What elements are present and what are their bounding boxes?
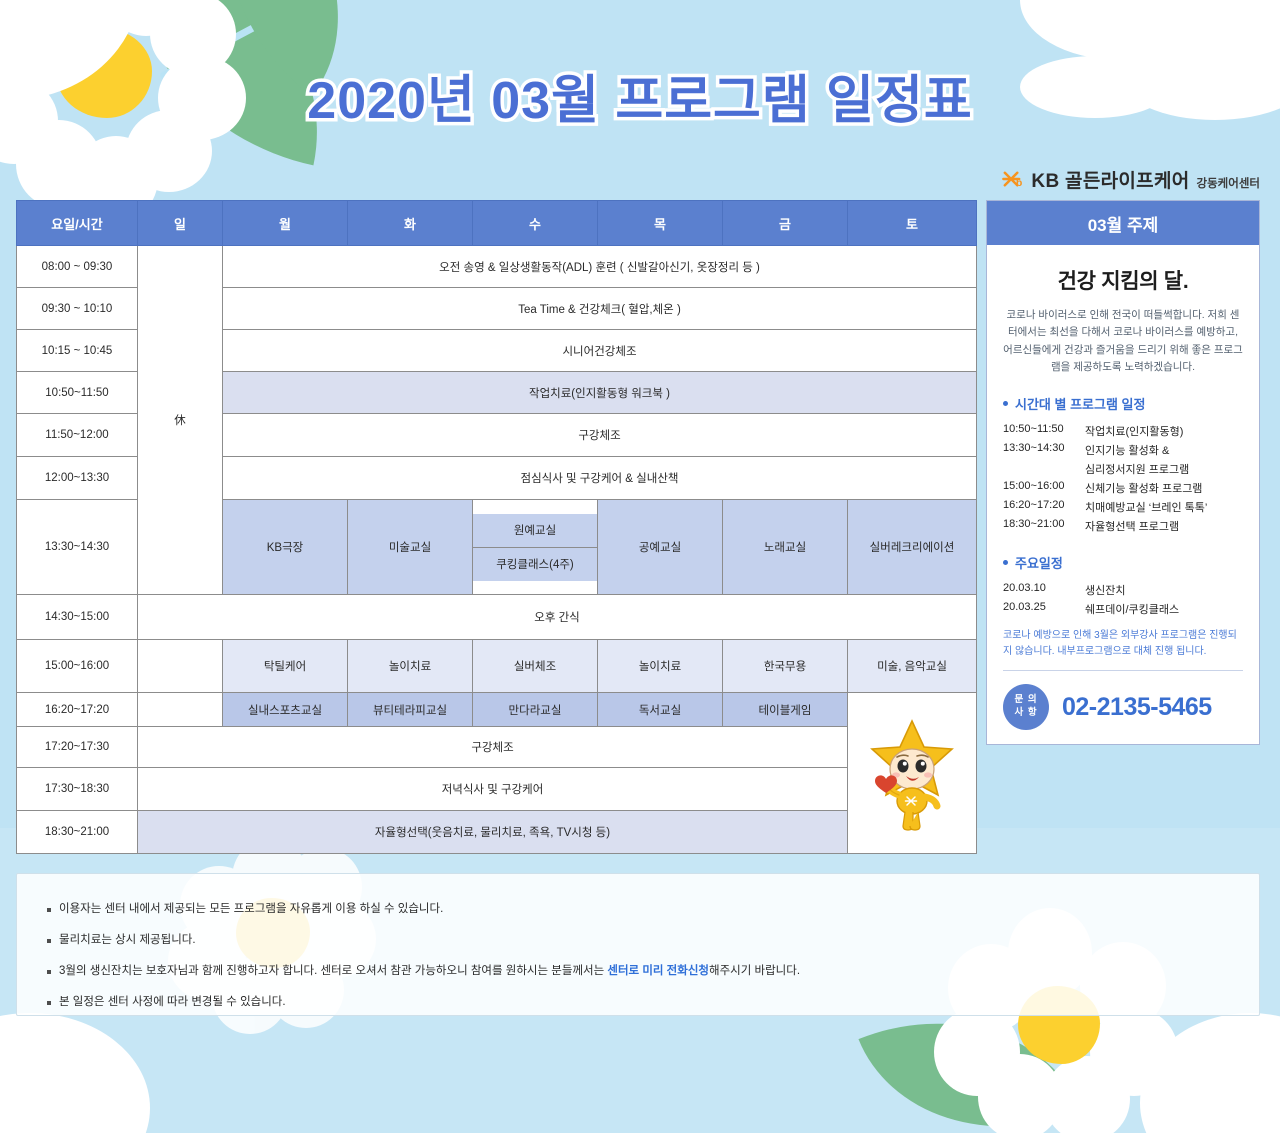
event-name: 생신잔치 (1085, 580, 1243, 599)
note-text-composite: 3월의 생신잔치는 보호자님과 함께 진행하고자 합니다. 센터로 오셔서 참관… (59, 964, 800, 979)
inquiry-label-line1: 문 의 (1014, 694, 1037, 707)
panel-header: 03월 주제 (987, 201, 1259, 245)
brand-name: KB 골든라이프케어 (1031, 166, 1189, 193)
inquiry-badge: 문 의 사 항 (1003, 684, 1049, 730)
time-label: 08:00 ~ 09:30 (17, 246, 138, 288)
table-header-row: 요일/시간 일 월 화 수 목 금 토 (17, 201, 977, 246)
note-item: 물리치료는 상시 제공됩니다. (47, 933, 1229, 948)
program-cell-wed: 실버체조 (473, 640, 598, 693)
program-cell-tue: 놀이치료 (348, 640, 473, 693)
slot-name-line2: 심리정서지원 프로그램 (1085, 459, 1243, 478)
sunday-empty-cell (138, 693, 223, 727)
note-text-post: 해주시기 바랍니다. (709, 965, 800, 977)
corona-notice: 코로나 예방으로 인해 3월은 외부강사 프로그램은 진행되지 않습니다. 내부… (1003, 628, 1243, 660)
bullet-square-icon (47, 939, 51, 943)
program-cell-mon: 탁틸케어 (223, 640, 348, 693)
note-text: 본 일정은 센터 사정에 따라 변경될 수 있습니다. (59, 995, 286, 1010)
event-name: 쉐프데이/쿠킹클래스 (1085, 599, 1243, 618)
program-cell-wed-upper: 원예교실 (473, 514, 597, 548)
monthly-theme-panel: 03월 주제 건강 지킴의 달. 코로나 바이러스로 인해 전국이 떠들썩합니다… (986, 200, 1260, 745)
program-cell-tue: 뷰티테라피교실 (348, 693, 473, 727)
slot-time: 18:30~21:00 (1003, 516, 1085, 535)
theme-title: 건강 지킴의 달. (1003, 265, 1243, 295)
table-row: 14:30~15:00 오후 간식 (17, 595, 977, 640)
slot-name: 자율형선택 프로그램 (1085, 516, 1243, 535)
program-cell-tue: 미술교실 (348, 500, 473, 595)
slot-time-empty (1003, 459, 1085, 478)
slot-name: 치매예방교실 ‘브레인 톡톡’ (1085, 497, 1243, 516)
program-cell-allday: Tea Time & 건강체크( 혈압,체온 ) (223, 288, 977, 330)
program-cell-wed-lower: 쿠킹클래스(4주) (473, 547, 597, 581)
bullet-square-icon (47, 908, 51, 912)
note-text: 이용자는 센터 내에서 제공되는 모든 프로그램을 자유롭게 이용 하실 수 있… (59, 902, 443, 917)
program-cell-thu: 공예교실 (598, 500, 723, 595)
mascot-character-cell (848, 693, 977, 854)
event-date: 20.03.25 (1003, 599, 1085, 618)
program-cell-allday: 오후 간식 (138, 595, 977, 640)
program-cell-sat: 실버레크리에이션 (848, 500, 977, 595)
time-label: 13:30~14:30 (17, 500, 138, 595)
program-cell-allday: 오전 송영 & 일상생활동작(ADL) 훈련 ( 신발갈아신기, 옷장정리 등 … (223, 246, 977, 288)
program-cell-fri: 테이블게임 (723, 693, 848, 727)
column-header-wed: 수 (473, 201, 598, 246)
bullet-icon (1003, 560, 1008, 565)
section-heading-schedule-label: 시간대 별 프로그램 일정 (1015, 394, 1145, 413)
program-cell-allday: 구강체조 (223, 414, 977, 457)
page-title: 2020년 03월 프로그램 일정표 (307, 58, 972, 133)
time-label: 17:30~18:30 (17, 768, 138, 811)
column-header-thu: 목 (598, 201, 723, 246)
list-item: 13:30~14:30 인지기능 활성화 & (1003, 440, 1243, 459)
list-item-continuation: 심리정서지원 프로그램 (1003, 459, 1243, 478)
slot-name: 신체기능 활성화 프로그램 (1085, 478, 1243, 497)
table-row: 08:00 ~ 09:30 休 오전 송영 & 일상생활동작(ADL) 훈련 (… (17, 246, 977, 288)
note-text: 물리치료는 상시 제공됩니다. (59, 933, 196, 948)
brand-logo: b KB 골든라이프케어 강동케어센터 (1001, 166, 1260, 193)
time-label: 11:50~12:00 (17, 414, 138, 457)
column-header-sat: 토 (848, 201, 977, 246)
time-label: 10:15 ~ 10:45 (17, 330, 138, 372)
timeslot-program-list: 10:50~11:50 작업치료(인지활동형) 13:30~14:30 인지기능… (1003, 421, 1243, 535)
table-row: 17:20~17:30 구강체조 (17, 727, 977, 768)
program-cell-thu: 독서교실 (598, 693, 723, 727)
column-header-mon: 월 (223, 201, 348, 246)
contact-phone-number[interactable]: 02-2135-5465 (1062, 693, 1212, 722)
sunday-empty-cell (138, 640, 223, 693)
section-heading-events-label: 주요일정 (1015, 553, 1063, 572)
table-row: 16:20~17:20 실내스포츠교실 뷰티테라피교실 만다라교실 독서교실 테… (17, 693, 977, 727)
program-cell-fri: 한국무용 (723, 640, 848, 693)
program-cell-allday: 구강체조 (138, 727, 848, 768)
time-label: 18:30~21:00 (17, 811, 138, 854)
time-label: 17:20~17:30 (17, 727, 138, 768)
program-cell-thu: 놀이치료 (598, 640, 723, 693)
key-events-list: 20.03.10 생신잔치 20.03.25 쉐프데이/쿠킹클래스 (1003, 580, 1243, 618)
bullet-square-icon (47, 970, 51, 974)
bullet-icon (1003, 401, 1008, 406)
note-item: 3월의 생신잔치는 보호자님과 함께 진행하고자 합니다. 센터로 오셔서 참관… (47, 964, 1229, 979)
note-text-pre: 3월의 생신잔치는 보호자님과 함께 진행하고자 합니다. 센터로 오셔서 참관… (59, 965, 607, 977)
time-label: 10:50~11:50 (17, 372, 138, 414)
program-cell-sat: 미술, 음악교실 (848, 640, 977, 693)
program-cell-mon: 실내스포츠교실 (223, 693, 348, 727)
program-cell-fri: 노래교실 (723, 500, 848, 595)
slot-name: 인지기능 활성화 & (1085, 440, 1243, 459)
program-cell-allday: 자율형선택(웃음치료, 물리치료, 족욕, TV시청 등) (138, 811, 848, 854)
program-cell-wed: 만다라교실 (473, 693, 598, 727)
column-header-tue: 화 (348, 201, 473, 246)
section-heading-schedule: 시간대 별 프로그램 일정 (1003, 394, 1243, 413)
poster-title-wrap: 2020년 03월 프로그램 일정표 (0, 58, 1280, 133)
program-cell-mon: KB극장 (223, 500, 348, 595)
branch-name: 강동케어센터 (1197, 175, 1260, 193)
table-row: 17:30~18:30 저녁식사 및 구강케어 (17, 768, 977, 811)
column-header-sun: 일 (138, 201, 223, 246)
svg-text:b: b (1016, 177, 1022, 189)
slot-time: 16:20~17:20 (1003, 497, 1085, 516)
time-label: 09:30 ~ 10:10 (17, 288, 138, 330)
sunday-rest-cell: 休 (138, 246, 223, 595)
list-item: 16:20~17:20 치매예방교실 ‘브레인 톡톡’ (1003, 497, 1243, 516)
event-date: 20.03.10 (1003, 580, 1085, 599)
slot-time: 13:30~14:30 (1003, 440, 1085, 459)
time-label: 14:30~15:00 (17, 595, 138, 640)
column-header-fri: 금 (723, 201, 848, 246)
note-item: 이용자는 센터 내에서 제공되는 모든 프로그램을 자유롭게 이용 하실 수 있… (47, 902, 1229, 917)
kb-star-icon: b (1001, 168, 1024, 191)
program-cell-allday: 시니어건강체조 (223, 330, 977, 372)
list-item: 18:30~21:00 자율형선택 프로그램 (1003, 516, 1243, 535)
slot-time: 10:50~11:50 (1003, 421, 1085, 440)
inquiry-label-line2: 사 항 (1014, 707, 1037, 720)
time-label: 16:20~17:20 (17, 693, 138, 727)
list-item: 20.03.25 쉐프데이/쿠킹클래스 (1003, 599, 1243, 618)
program-cell-wed-split: 원예교실 쿠킹클래스(4주) (473, 500, 598, 595)
footer-notes-box: 이용자는 센터 내에서 제공되는 모든 프로그램을 자유롭게 이용 하실 수 있… (16, 873, 1260, 1016)
contact-block: 문 의 사 항 02-2135-5465 (1003, 670, 1243, 744)
list-item: 15:00~16:00 신체기능 활성화 프로그램 (1003, 478, 1243, 497)
slot-name: 작업치료(인지활동형) (1085, 421, 1243, 440)
theme-description: 코로나 바이러스로 인해 전국이 떠들썩합니다. 저희 센터에서는 최선을 다해… (1003, 307, 1243, 376)
table-row: 18:30~21:00 자율형선택(웃음치료, 물리치료, 족욕, TV시청 등… (17, 811, 977, 854)
list-item: 10:50~11:50 작업치료(인지활동형) (1003, 421, 1243, 440)
slot-time: 15:00~16:00 (1003, 478, 1085, 497)
column-header-timeday: 요일/시간 (17, 201, 138, 246)
program-schedule-table: 요일/시간 일 월 화 수 목 금 토 08:00 ~ 09:30 休 오전 송… (16, 200, 977, 854)
bullet-square-icon (47, 1001, 51, 1005)
note-text-highlight: 센터로 미리 전화신청 (607, 965, 709, 977)
program-cell-allday: 저녁식사 및 구강케어 (138, 768, 848, 811)
time-label: 15:00~16:00 (17, 640, 138, 693)
table-row: 15:00~16:00 탁틸케어 놀이치료 실버체조 놀이치료 한국무용 미술,… (17, 640, 977, 693)
program-cell-allday: 점심식사 및 구강케어 & 실내산책 (223, 457, 977, 500)
program-cell-allday: 작업치료(인지활동형 워크북 ) (223, 372, 977, 414)
time-label: 12:00~13:30 (17, 457, 138, 500)
note-item: 본 일정은 센터 사정에 따라 변경될 수 있습니다. (47, 995, 1229, 1010)
panel-body: 건강 지킴의 달. 코로나 바이러스로 인해 전국이 떠들썩합니다. 저희 센터… (987, 245, 1259, 670)
list-item: 20.03.10 생신잔치 (1003, 580, 1243, 599)
section-heading-events: 주요일정 (1003, 553, 1243, 572)
star-mascot-icon (866, 713, 958, 833)
